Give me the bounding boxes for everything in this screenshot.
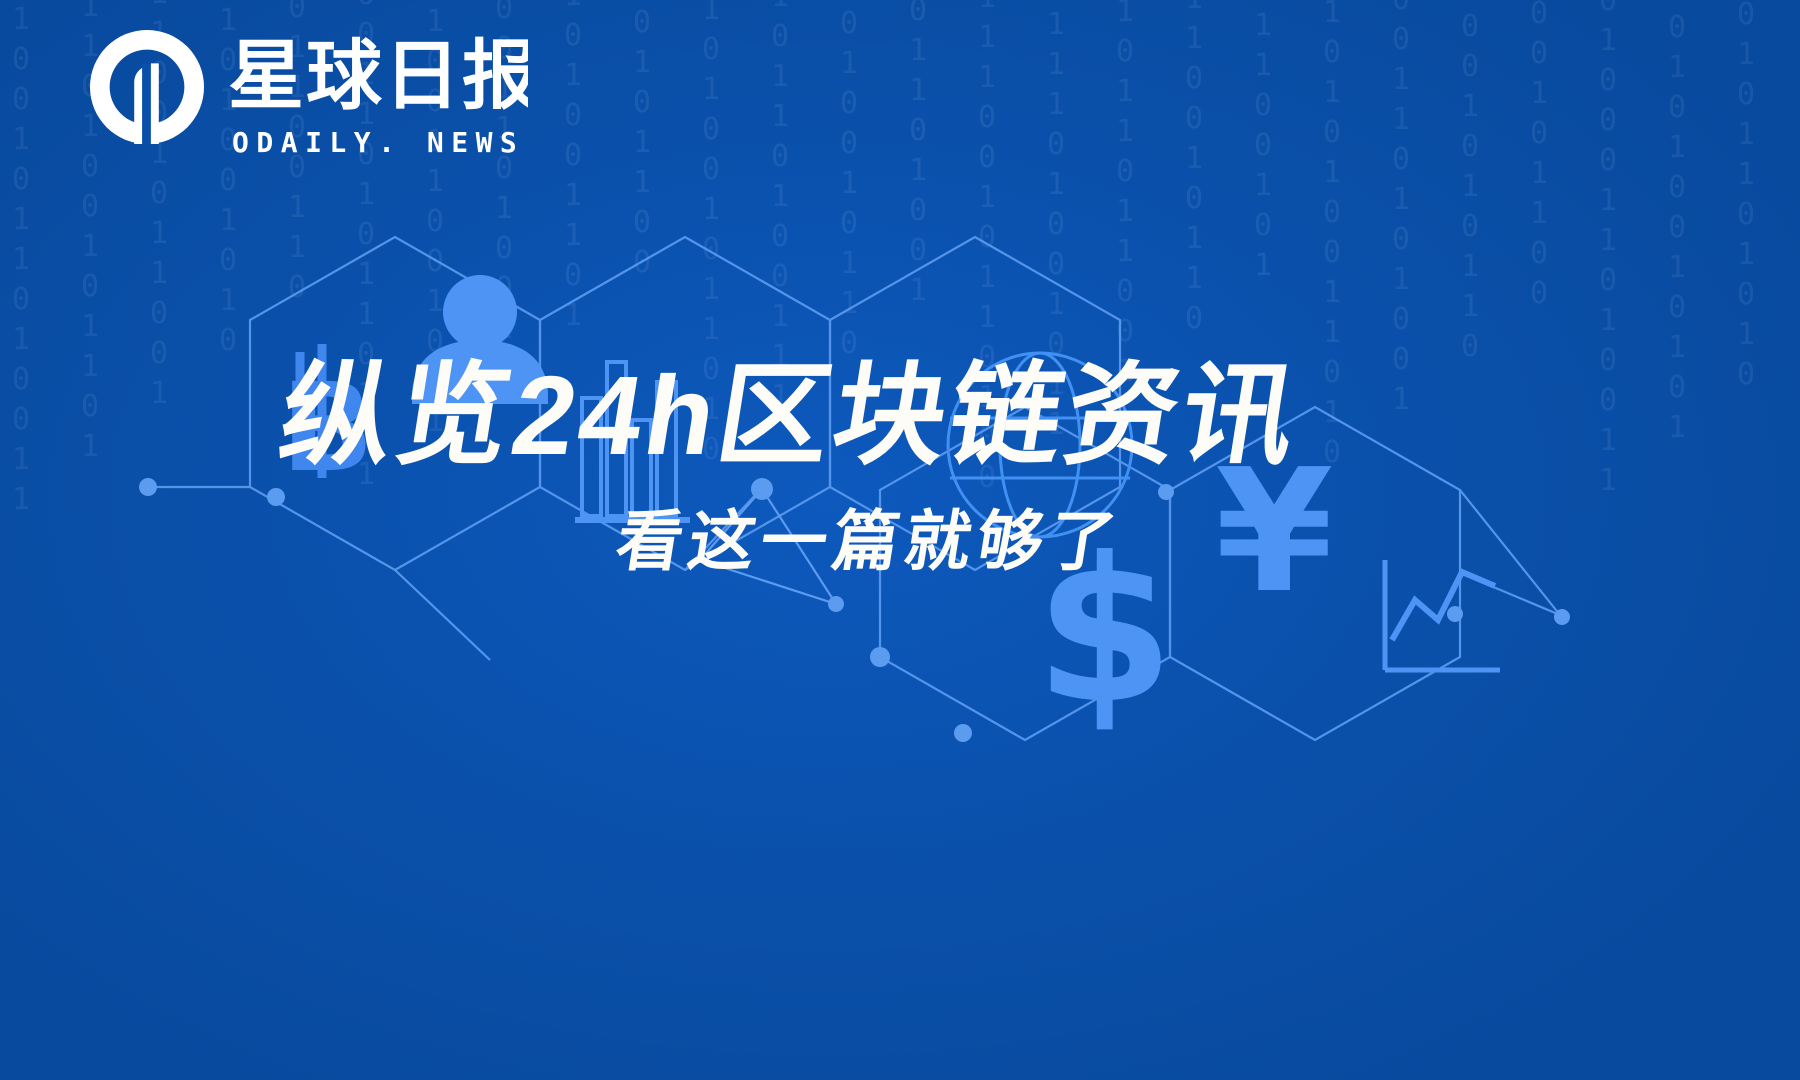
poster-canvas: 1 0 0 1 0 1 1 0 1 0 0 1 10 1 1 0 1 0 0 1… — [0, 0, 1800, 1080]
subtitle: 看这一篇就够了 — [610, 498, 1170, 584]
main-title-text: 纵览24h区块链资讯 — [272, 353, 1309, 478]
main-title: 纵览24h区块链资讯 — [270, 350, 1390, 480]
odaily-circle-p-mark — [88, 28, 206, 146]
brand-name-en: ODAILY. NEWS — [232, 126, 528, 159]
brand-name-cn-wordmark: 星球日报 — [228, 34, 528, 118]
brand-name-cn: 星球日报 — [228, 34, 528, 118]
brand-logo[interactable]: 星球日报 ODAILY. NEWS — [88, 28, 528, 159]
line-chart-icon — [1385, 560, 1500, 670]
subtitle-text: 看这一篇就够了 — [611, 505, 1127, 579]
